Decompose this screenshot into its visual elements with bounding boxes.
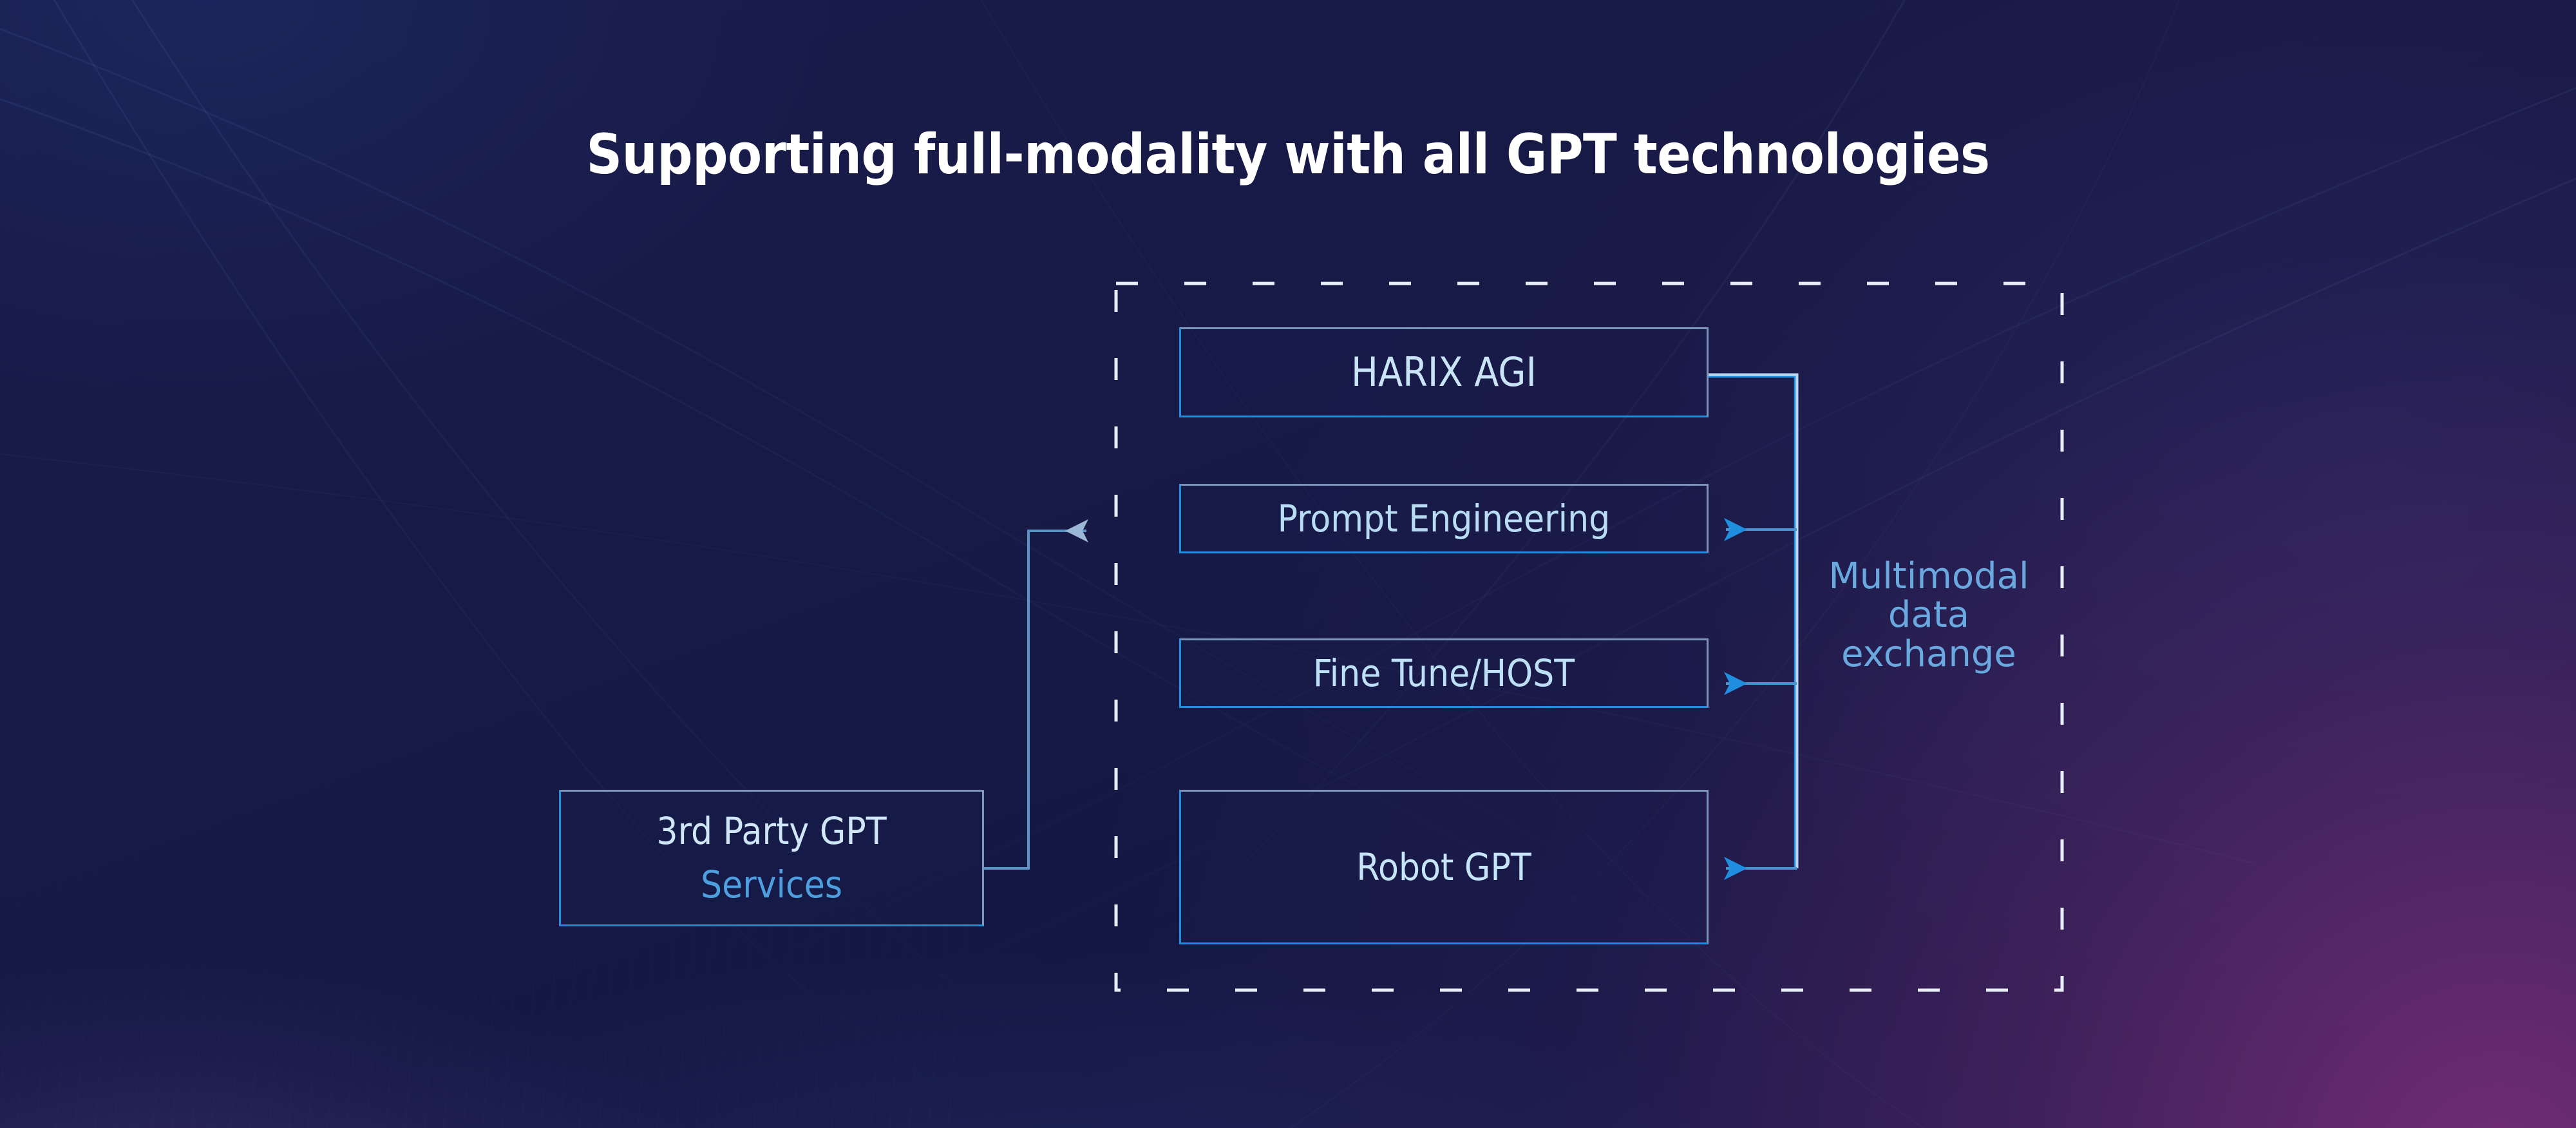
page-title: Supporting full-modality with all GPT te… (0, 122, 2576, 187)
node-prompt-engineering-label: Prompt Engineering (1278, 498, 1611, 540)
node-robot-gpt[interactable]: Robot GPT (1179, 790, 1709, 944)
node-fine-tune-host-label: Fine Tune/HOST (1313, 653, 1575, 694)
node-third-party-line2: Services (701, 864, 842, 906)
slide-canvas: Supporting full-modality with all GPT te… (0, 0, 2576, 1128)
node-harix-agi[interactable]: HARIX AGI (1179, 327, 1709, 417)
node-third-party-gpt-services[interactable]: 3rd Party GPT Services (559, 790, 984, 926)
node-third-party-line1: 3rd Party GPT (656, 810, 886, 852)
node-prompt-engineering[interactable]: Prompt Engineering (1179, 484, 1709, 553)
node-fine-tune-host[interactable]: Fine Tune/HOST (1179, 638, 1709, 708)
node-robot-gpt-label: Robot GPT (1356, 846, 1531, 888)
node-harix-agi-label: HARIX AGI (1351, 350, 1537, 394)
edge-thirdparty-to-region (984, 531, 1086, 868)
caption-multimodal-data-exchange: Multimodal data exchange (1816, 557, 2041, 674)
